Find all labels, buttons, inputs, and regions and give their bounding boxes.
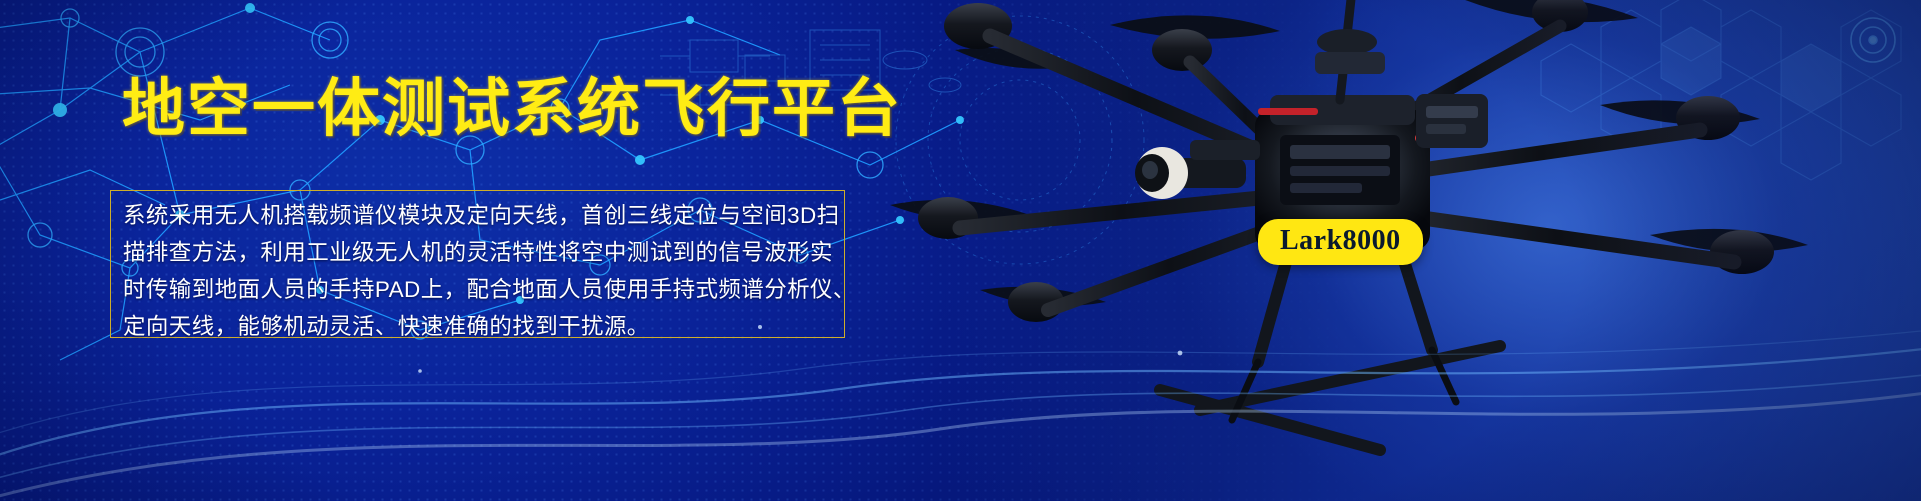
description-line-2: 描排查方法，利用工业级无人机的灵活特性将空中测试到的信号波形实 [123,234,832,271]
description-line-4: 定向天线，能够机动灵活、快速准确的找到干扰源。 [123,308,832,345]
product-model-badge: Lark8000 [1258,219,1423,265]
description-line-1: 系统采用无人机搭载频谱仪模块及定向天线，首创三线定位与空间3D扫 [123,197,832,234]
page-title: 地空一体测试系统飞行平台 [122,78,902,141]
description-box: 系统采用无人机搭载频谱仪模块及定向天线，首创三线定位与空间3D扫 描排查方法，利… [110,190,845,338]
description-line-3: 时传输到地面人员的手持PAD上，配合地面人员使用手持式频谱分析仪、 [123,271,832,308]
product-banner: 地空一体测试系统飞行平台 系统采用无人机搭载频谱仪模块及定向天线，首创三线定位与… [0,0,1921,501]
